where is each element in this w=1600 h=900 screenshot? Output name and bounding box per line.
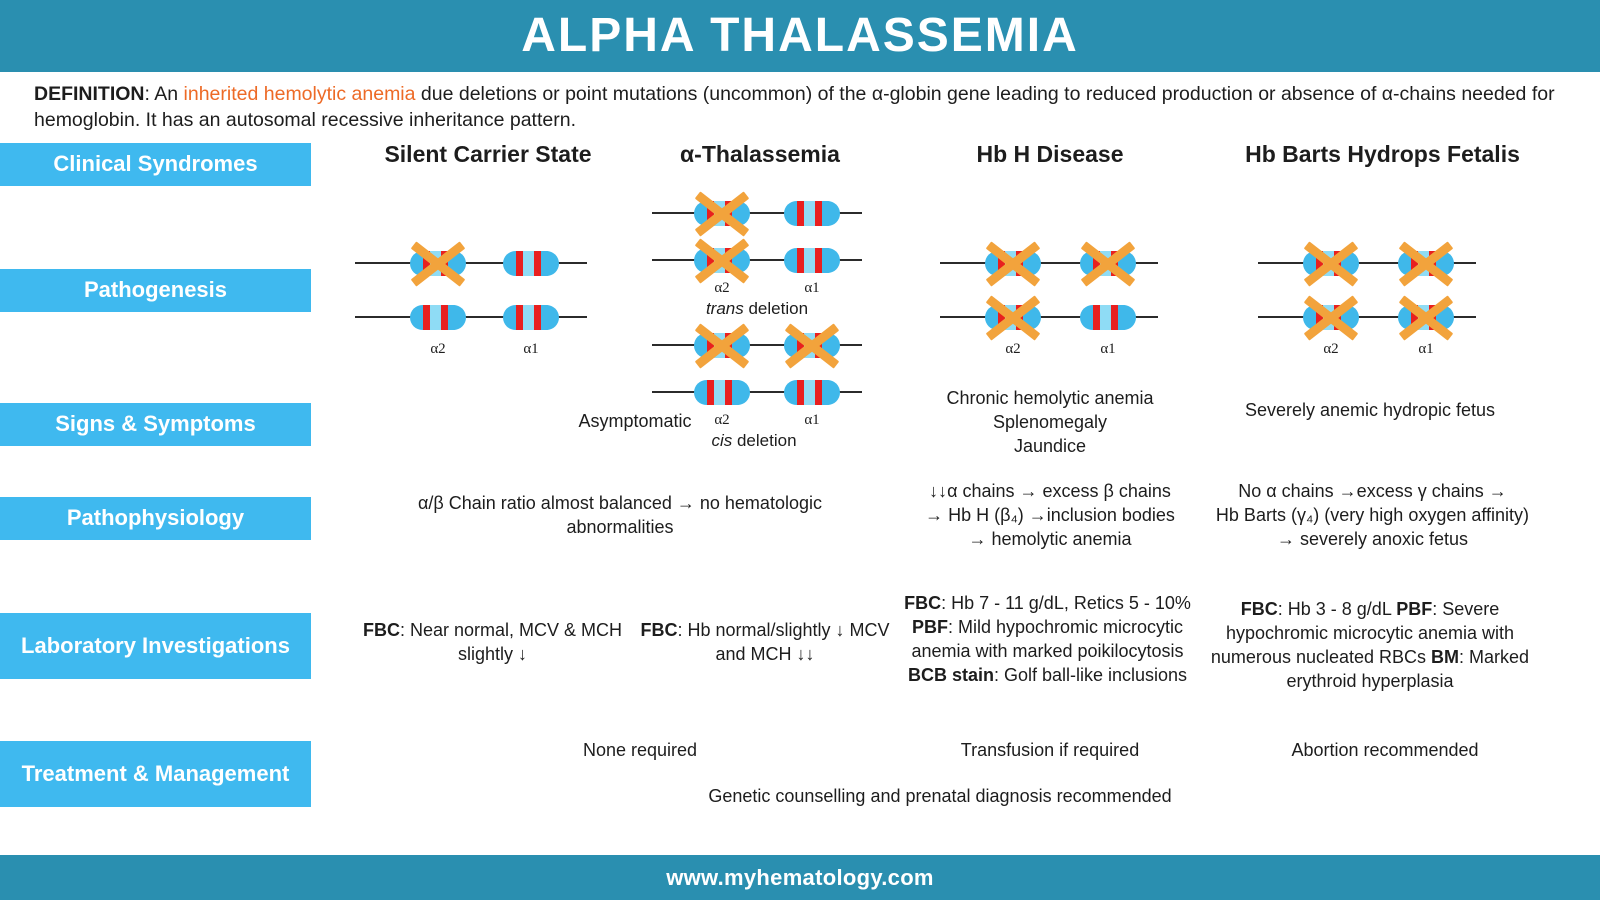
section-bar-pathophysiology: Pathophysiology	[0, 497, 311, 540]
gene-diagram-alpha-thal-trans: α2 α1 trans deletion	[652, 191, 867, 282]
section-bar-treatment-management: Treatment & Management	[0, 741, 311, 807]
laboratory-hb-barts: FBC: Hb 3 - 8 g/dL PBF: Severe hypochrom…	[1205, 598, 1535, 694]
treatment-general-note: Genetic counselling and prenatal diagnos…	[560, 785, 1320, 809]
section-label: Pathogenesis	[84, 278, 227, 303]
lab-fbc-text: : Hb 3 - 8 g/dL	[1278, 599, 1391, 619]
lab-pbf-text: : Mild hypochromic microcytic anemia wit…	[911, 617, 1183, 661]
gene-alpha1	[784, 201, 840, 226]
chromosome-row	[355, 295, 595, 339]
lab-pbf-label: PBF	[912, 617, 948, 637]
laboratory-silent-carrier: FBC: Near normal, MCV & MCH slightly ↓	[360, 619, 625, 667]
pathophysiology-hb-barts-line2: Hb Barts (γ₄) (very high oxygen affinity…	[1195, 504, 1550, 528]
definition-part1: : An	[145, 83, 184, 105]
pathophysiology-hb-h-line3: → hemolytic anemia	[900, 528, 1200, 552]
section-label: Signs & Symptoms	[55, 412, 255, 437]
main-content-area: Clinical Syndromes Pathogenesis Signs & …	[0, 137, 1600, 837]
signs-hb-barts: Severely anemic hydropic fetus	[1205, 399, 1535, 423]
chromosome-row	[652, 323, 867, 367]
gene-diagram-alpha-thal-cis: α2 α1 cis deletion	[652, 323, 867, 414]
lab-fbc-text: : Hb 7 - 11 g/dL, Retics 5 - 10%	[941, 593, 1191, 613]
gene-alpha2	[410, 305, 466, 330]
section-label: Laboratory Investigations	[21, 634, 290, 659]
section-label: Pathophysiology	[67, 506, 244, 531]
gene-label-alpha1: α1	[782, 280, 842, 297]
section-bar-laboratory-investigations: Laboratory Investigations	[0, 613, 311, 679]
lab-pbf-label: PBF	[1396, 599, 1432, 619]
lab-bcb-label: BCB stain	[908, 665, 994, 685]
treatment-silent-carrier: None required	[500, 739, 780, 763]
chromosome-row	[652, 191, 867, 235]
gene-alpha1	[784, 248, 840, 273]
pathophysiology-hb-h-line2: → Hb H (β₄) →inclusion bodies	[900, 504, 1200, 528]
gene-label-alpha2: α2	[1301, 341, 1361, 358]
footer-website-url: www.myhematology.com	[666, 865, 934, 891]
lab-bm-label: BM	[1431, 647, 1459, 667]
definition-label: DEFINITION	[34, 83, 145, 105]
column-header-hb-h-disease: Hb H Disease	[925, 141, 1175, 167]
gene-label-alpha2: α2	[983, 341, 1043, 358]
gene-label-alpha1: α1	[1396, 341, 1456, 358]
definition-block: DEFINITION: An inherited hemolytic anemi…	[0, 72, 1600, 137]
gene-label-alpha2: α2	[692, 280, 752, 297]
footer-banner: www.myhematology.com	[0, 855, 1600, 900]
chromosome-row	[1258, 241, 1483, 285]
pathophysiology-hb-h-line1: ↓↓α chains → excess β chains	[900, 480, 1200, 504]
gene-alpha2-deleted	[1303, 305, 1359, 330]
section-label: Clinical Syndromes	[53, 152, 257, 177]
pathophysiology-hb-barts: No α chains →excess γ chains → Hb Barts …	[1195, 480, 1550, 552]
chromosome-row	[652, 370, 867, 414]
gene-alpha2-deleted	[694, 201, 750, 226]
signs-hb-h-disease: Chronic hemolytic anemia Splenomegaly Ja…	[905, 387, 1195, 459]
column-header-silent-carrier: Silent Carrier State	[348, 141, 628, 167]
section-bar-clinical-syndromes: Clinical Syndromes	[0, 143, 311, 186]
gene-alpha2-deleted	[694, 333, 750, 358]
chromosome-row	[940, 241, 1165, 285]
lab-bcb-text: : Golf ball-like inclusions	[994, 665, 1187, 685]
gene-diagram-silent-carrier: α2 α1	[355, 241, 595, 339]
deletion-caption-cis: cis deletion	[644, 431, 864, 451]
gene-diagram-hb-barts: α2 α1	[1258, 241, 1483, 339]
gene-alpha2-deleted	[694, 248, 750, 273]
column-header-alpha-thalassemia: α-Thalassemia	[640, 141, 880, 167]
gene-alpha1	[503, 251, 559, 276]
gene-alpha1	[503, 305, 559, 330]
lab-fbc-label: FBC	[363, 620, 400, 640]
signs-silent-carrier: Asymptomatic	[470, 410, 800, 434]
pathophysiology-hb-barts-line1: No α chains →excess γ chains →	[1195, 480, 1550, 504]
deletion-caption-trans-italic: trans	[706, 299, 744, 318]
gene-alpha1	[784, 380, 840, 405]
section-label: Treatment & Management	[22, 762, 290, 787]
pathophysiology-hb-h-disease: ↓↓α chains → excess β chains → Hb H (β₄)…	[900, 480, 1200, 552]
treatment-hb-barts: Abortion recommended	[1245, 739, 1525, 763]
page-title: ALPHA THALASSEMIA	[521, 12, 1079, 60]
gene-alpha2-deleted	[1303, 251, 1359, 276]
gene-alpha1-deleted	[1080, 251, 1136, 276]
chromosome-row	[355, 241, 595, 285]
laboratory-hb-h-disease: FBC: Hb 7 - 11 g/dL, Retics 5 - 10% PBF:…	[895, 592, 1200, 688]
header-banner: ALPHA THALASSEMIA	[0, 0, 1600, 72]
chromosome-row	[1258, 295, 1483, 339]
section-bar-pathogenesis: Pathogenesis	[0, 269, 311, 312]
lab-fbc-text: : Hb normal/slightly ↓ MCV and MCH ↓↓	[677, 620, 889, 664]
gene-alpha2-deleted	[985, 305, 1041, 330]
chromosome-row	[940, 295, 1165, 339]
definition-accent-phrase: inherited hemolytic anemia	[184, 83, 416, 105]
lab-fbc-label: FBC	[1241, 599, 1278, 619]
gene-alpha1-deleted	[1398, 251, 1454, 276]
chromosome-row	[652, 238, 867, 282]
lab-fbc-label: FBC	[640, 620, 677, 640]
lab-fbc-label: FBC	[904, 593, 941, 613]
deletion-caption-trans-rest: deletion	[744, 299, 808, 318]
gene-label-alpha2: α2	[408, 341, 468, 358]
gene-alpha1-deleted	[1398, 305, 1454, 330]
gene-label-alpha1: α1	[501, 341, 561, 358]
pathophysiology-hb-barts-line3: → severely anoxic fetus	[1195, 528, 1550, 552]
lab-fbc-text: : Near normal, MCV & MCH slightly ↓	[400, 620, 622, 664]
pathophysiology-silent-carrier: α/β Chain ratio almost balanced → no hem…	[395, 492, 845, 540]
gene-label-alpha1: α1	[1078, 341, 1138, 358]
section-bar-signs-symptoms: Signs & Symptoms	[0, 403, 311, 446]
gene-alpha2-deleted	[410, 251, 466, 276]
gene-alpha2-deleted	[985, 251, 1041, 276]
gene-diagram-hb-h-disease: α2 α1	[940, 241, 1165, 339]
treatment-hb-h-disease: Transfusion if required	[910, 739, 1190, 763]
gene-alpha1-deleted	[784, 333, 840, 358]
laboratory-alpha-thalassemia: FBC: Hb normal/slightly ↓ MCV and MCH ↓↓	[640, 619, 890, 667]
gene-alpha2	[694, 380, 750, 405]
column-header-hb-barts-hydrops-fetalis: Hb Barts Hydrops Fetalis	[1230, 141, 1535, 167]
gene-alpha1	[1080, 305, 1136, 330]
deletion-caption-trans: trans deletion	[647, 299, 867, 319]
